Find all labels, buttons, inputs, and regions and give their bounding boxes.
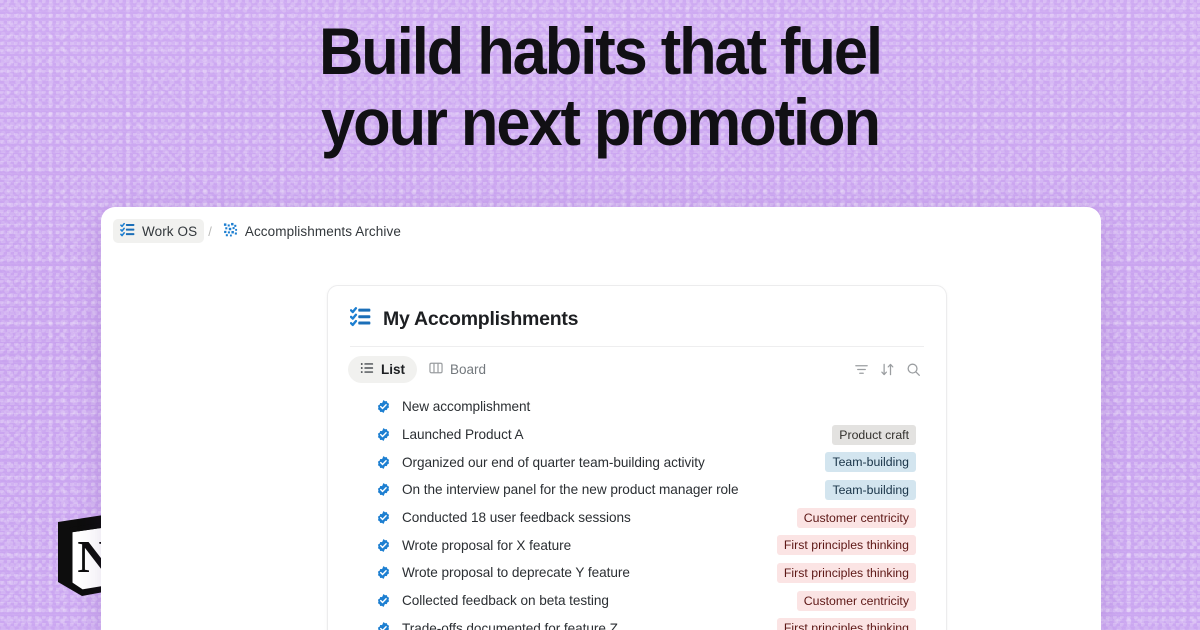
task-list-icon <box>120 222 135 240</box>
page-title: My Accomplishments <box>383 308 578 331</box>
list-item-label: Trade-offs documented for feature Z <box>402 621 618 630</box>
status-badge[interactable]: Product craft <box>832 425 916 445</box>
filter-icon[interactable] <box>848 357 874 383</box>
card-header: My Accomplishments <box>328 286 946 346</box>
verified-check-icon <box>376 621 391 630</box>
list-item-label: Collected feedback on beta testing <box>402 593 609 608</box>
tab-board[interactable]: Board <box>417 356 498 383</box>
verified-check-icon <box>376 482 391 497</box>
list-item-label: Wrote proposal to deprecate Y feature <box>402 565 630 580</box>
status-badge[interactable]: Customer centricity <box>797 508 916 528</box>
status-badge[interactable]: First principles thinking <box>777 618 916 630</box>
list-item[interactable]: New accomplishment <box>328 393 946 421</box>
search-icon[interactable] <box>900 357 926 383</box>
breadcrumb: Work OS / Accomplishments Archive <box>101 211 1101 251</box>
puzzle-pixel-icon <box>223 222 238 240</box>
verified-check-icon <box>376 565 391 580</box>
verified-check-icon <box>376 538 391 553</box>
tab-label: List <box>381 362 405 377</box>
status-badge[interactable]: Customer centricity <box>797 591 916 611</box>
task-list-icon <box>350 306 371 332</box>
status-badge[interactable]: Team-building <box>825 452 916 472</box>
view-tab-row: List Board <box>328 347 946 389</box>
list-item[interactable]: Wrote proposal to deprecate Y feature Fi… <box>328 559 946 587</box>
list-item[interactable]: Wrote proposal for X feature First princ… <box>328 531 946 559</box>
verified-check-icon <box>376 427 391 442</box>
list-item-label: Launched Product A <box>402 427 524 442</box>
tab-list[interactable]: List <box>348 356 417 383</box>
status-badge[interactable]: First principles thinking <box>777 563 916 583</box>
app-window: Work OS / Accomplishments Archive <box>101 207 1101 630</box>
verified-check-icon <box>376 510 391 525</box>
breadcrumb-item-accomplishments-archive[interactable]: Accomplishments Archive <box>216 219 408 243</box>
breadcrumb-item-work-os[interactable]: Work OS <box>113 219 204 243</box>
list-item[interactable]: Organized our end of quarter team-buildi… <box>328 448 946 476</box>
verified-check-icon <box>376 455 391 470</box>
list-item[interactable]: Launched Product A Product craft <box>328 421 946 449</box>
verified-check-icon <box>376 399 391 414</box>
list-item[interactable]: Collected feedback on beta testing Custo… <box>328 587 946 615</box>
list-item-label: Wrote proposal for X feature <box>402 538 571 553</box>
list-item-label: On the interview panel for the new produ… <box>402 482 739 497</box>
sort-icon[interactable] <box>874 357 900 383</box>
breadcrumb-separator: / <box>204 224 216 239</box>
accomplishments-card: My Accomplishments List <box>327 285 947 630</box>
page-headline: Build habits that fuel your next promoti… <box>42 16 1158 158</box>
list-item[interactable]: Conducted 18 user feedback sessions Cust… <box>328 504 946 532</box>
accomplishments-list: New accomplishment Launched Product A Pr… <box>328 389 946 630</box>
tab-label: Board <box>450 362 486 377</box>
status-badge[interactable]: Team-building <box>825 480 916 500</box>
breadcrumb-label: Work OS <box>142 224 197 239</box>
list-item-label: New accomplishment <box>402 399 530 414</box>
list-view-icon <box>360 361 374 378</box>
verified-check-icon <box>376 593 391 608</box>
board-view-icon <box>429 361 443 378</box>
list-item-label: Organized our end of quarter team-buildi… <box>402 455 705 470</box>
breadcrumb-label: Accomplishments Archive <box>245 224 401 239</box>
list-item-label: Conducted 18 user feedback sessions <box>402 510 631 525</box>
list-item[interactable]: On the interview panel for the new produ… <box>328 476 946 504</box>
status-badge[interactable]: First principles thinking <box>777 535 916 555</box>
list-item[interactable]: Trade-offs documented for feature Z Firs… <box>328 615 946 630</box>
